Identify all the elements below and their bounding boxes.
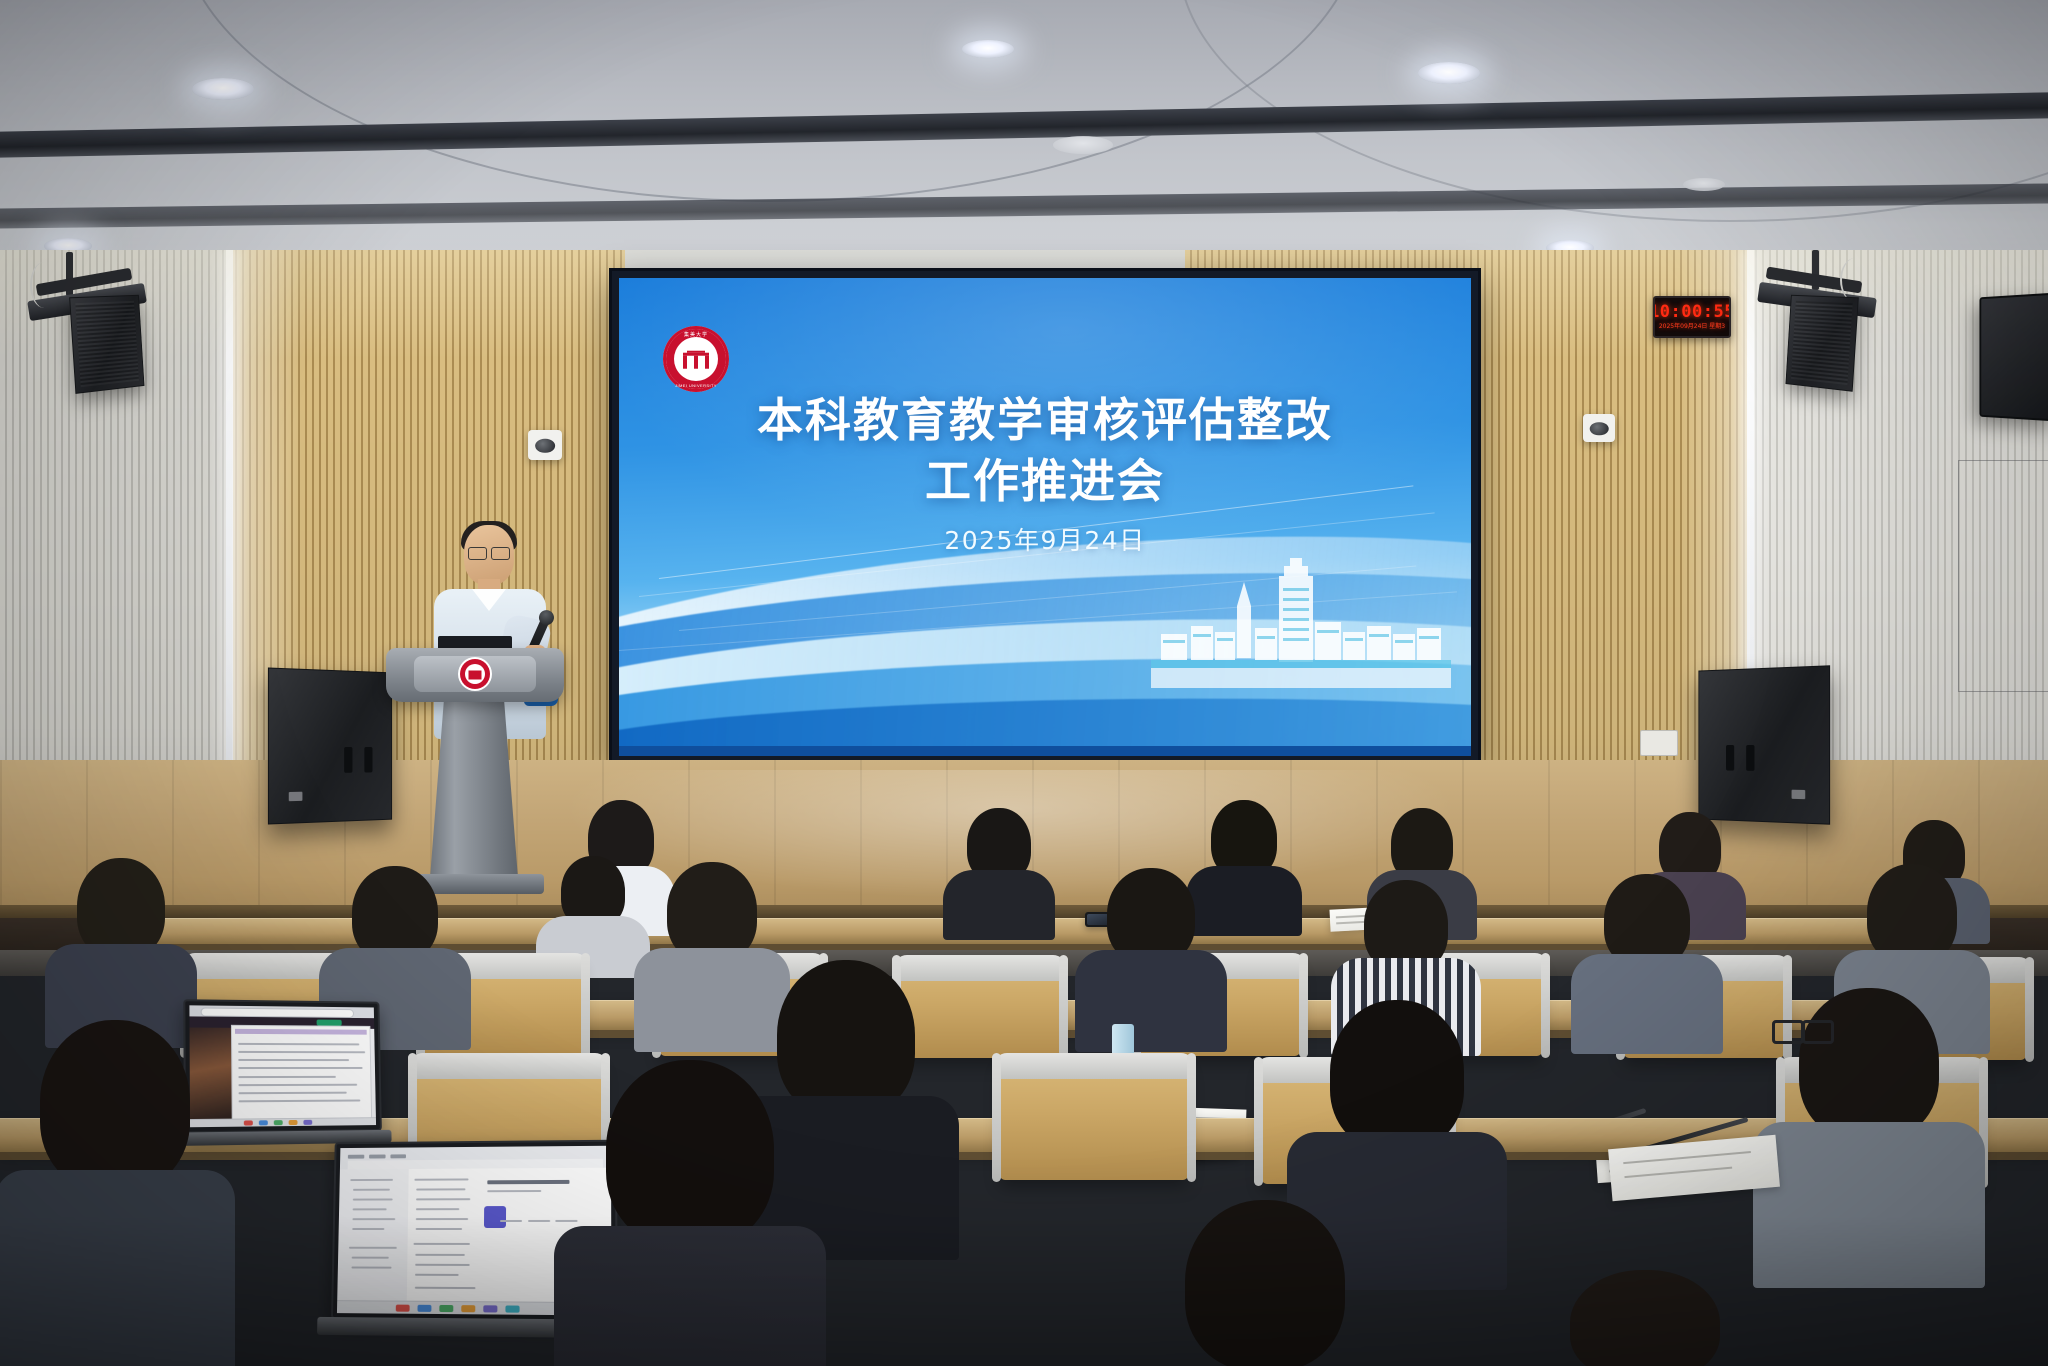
slide-date: 2025年9月24日	[619, 521, 1471, 557]
camera-lens	[535, 438, 555, 452]
logo-bottom-text: JIMEI UNIVERSITY	[663, 383, 729, 388]
wall-speaker-left	[69, 295, 144, 394]
attendee	[1572, 874, 1722, 1054]
ptz-camera-right	[1583, 414, 1615, 442]
attendee	[944, 808, 1054, 934]
attendee	[1076, 868, 1226, 1052]
cityscape-silhouette	[1151, 548, 1451, 688]
ceiling-curve-left	[180, 0, 1360, 200]
slide-surface: 集美大学 JIMEI UNIVERSITY 本科教育教学审核评估整改 工作推进会…	[619, 278, 1471, 756]
slide-title-line2: 工作推进会	[619, 451, 1471, 512]
attendee	[538, 856, 648, 966]
eyeglasses-icon	[1772, 1020, 1834, 1038]
smoke-detector	[1683, 178, 1725, 191]
clock-time: 10:00:55	[1653, 304, 1731, 321]
document-pane	[231, 1025, 372, 1119]
cable	[1840, 258, 1870, 302]
podium-university-emblem	[460, 659, 490, 689]
slide-university-logo: 集美大学 JIMEI UNIVERSITY	[663, 326, 729, 392]
recessed-downlight	[962, 40, 1014, 58]
cable	[30, 262, 58, 308]
ptz-camera-left	[528, 430, 562, 460]
wall-access-panel	[1958, 460, 2048, 692]
attendee	[0, 1020, 230, 1366]
attendee	[560, 1060, 820, 1366]
eyeglasses-icon	[468, 547, 510, 558]
digital-wall-clock: 10:00:55 2025年09月24日 星期3	[1653, 296, 1731, 338]
camera-lens	[1590, 422, 1609, 435]
subwoofer-left	[268, 667, 392, 824]
slide-title-line1: 本科教育教学审核评估整改	[757, 393, 1333, 447]
emblem-gate-icon	[683, 351, 709, 369]
attendee	[1530, 1270, 1760, 1366]
recessed-downlight	[1418, 62, 1480, 84]
wall-outlet	[1640, 730, 1678, 756]
recessed-downlight	[192, 78, 254, 100]
file-icon[interactable]	[484, 1207, 506, 1229]
clock-date: 2025年09月24日 星期3	[1659, 324, 1725, 330]
led-video-wall: 集美大学 JIMEI UNIVERSITY 本科教育教学审核评估整改 工作推进会…	[612, 271, 1478, 763]
seat[interactable]	[1000, 1060, 1188, 1180]
subwoofer-right	[1698, 665, 1830, 824]
wall-monitor	[1980, 292, 2048, 421]
logo-top-text: 集美大学	[663, 331, 729, 338]
smoke-detector	[1053, 136, 1113, 154]
wall-speaker-right	[1785, 295, 1858, 392]
slide-title: 本科教育教学审核评估整改 工作推进会	[619, 390, 1471, 511]
attendee	[1140, 1200, 1390, 1366]
lecture-hall-photo: 10:00:55 2025年09月24日 星期3	[0, 0, 2048, 1366]
